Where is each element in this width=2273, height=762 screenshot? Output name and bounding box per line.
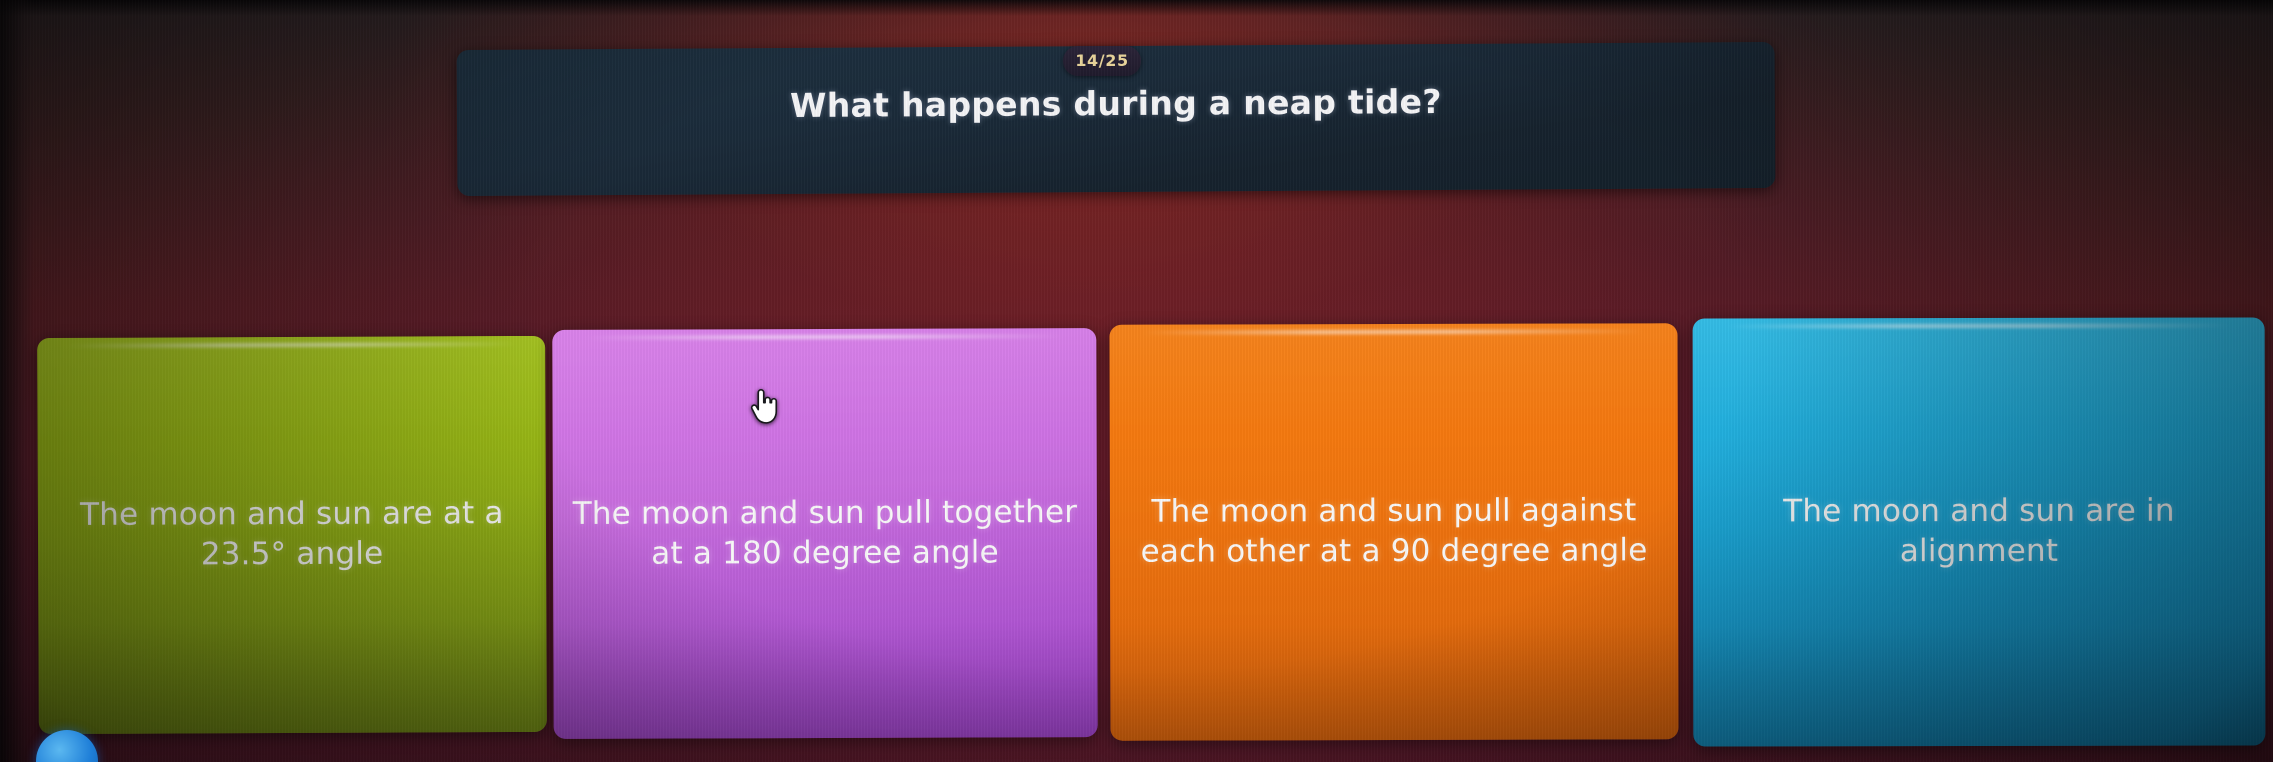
quiz-screen: 14/25 What happens during a neap tide? T…: [0, 0, 2273, 762]
answer-option-2[interactable]: The moon and sun pull together at a 180 …: [552, 328, 1097, 739]
answer-option-1-label: The moon and sun are at a 23.5° angle: [38, 494, 546, 576]
pointing-hand-cursor-icon: [748, 386, 778, 428]
question-text: What happens during a neap tide?: [457, 80, 1775, 127]
question-counter-badge: 14/25: [1063, 46, 1141, 76]
answer-option-1[interactable]: The moon and sun are at a 23.5° angle: [37, 336, 547, 734]
answer-option-3[interactable]: The moon and sun pull against each other…: [1109, 323, 1678, 740]
answer-option-4[interactable]: The moon and sun are in alignment: [1693, 318, 2266, 747]
answer-option-3-label: The moon and sun pull against each other…: [1110, 492, 1678, 573]
answer-option-2-label: The moon and sun pull together at a 180 …: [553, 493, 1097, 574]
answer-option-4-label: The moon and sun are in alignment: [1693, 492, 2265, 572]
screen-top-edge: [0, 0, 2273, 16]
screen-left-edge: [0, 0, 34, 762]
